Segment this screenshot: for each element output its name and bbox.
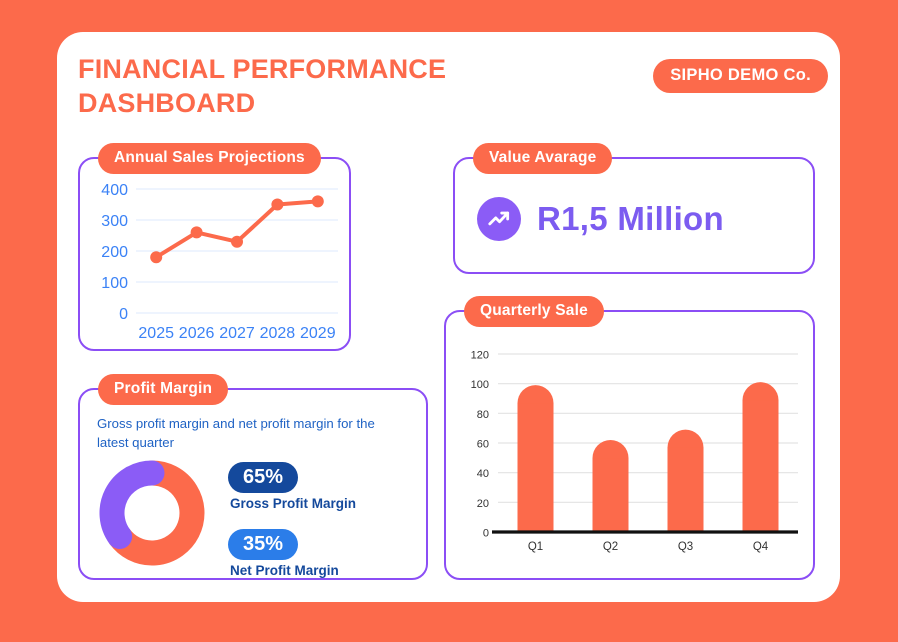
card-title-annual-sales: Annual Sales Projections [98, 143, 321, 174]
value-average-row: R1,5 Million [477, 197, 724, 241]
x-axis-tick-label: Q2 [603, 541, 618, 553]
profit-margin-description: Gross profit margin and net profit margi… [97, 414, 397, 452]
value-average-metric: R1,5 Million [537, 200, 724, 238]
x-axis-tick-label: Q3 [678, 541, 693, 553]
card-title-value-average: Value Avarage [473, 143, 612, 174]
y-axis-tick-label: 60 [477, 439, 489, 451]
x-axis-tick-label: 2028 [260, 325, 296, 342]
data-point-marker [312, 195, 324, 207]
y-axis-tick-label: 20 [477, 498, 489, 510]
legend-label-gross: Gross Profit Margin [230, 496, 356, 511]
card-annual-sales-projections: Annual Sales Projections 010020030040020… [78, 157, 351, 351]
line-chart-annual-sales: 010020030040020252026202720282029 [80, 171, 348, 351]
x-axis-tick-label: 2029 [300, 325, 336, 342]
card-quarterly-sale: Quarterly Sale 020406080100120Q1Q2Q3Q4 [444, 310, 815, 580]
donut-chart-profit-margin [96, 458, 214, 568]
y-axis-tick-label: 0 [119, 306, 128, 323]
donut-chart-svg [96, 458, 214, 568]
card-title-profit-margin: Profit Margin [98, 374, 228, 405]
line-chart-svg: 010020030040020252026202720282029 [80, 171, 348, 351]
legend-item-net: 35% Net Profit Margin [228, 529, 356, 578]
bar-chart-quarterly-sale: 020406080100120Q1Q2Q3Q4 [446, 336, 812, 576]
legend-item-gross: 65% Gross Profit Margin [228, 462, 356, 511]
data-point-marker [271, 199, 283, 211]
y-axis-tick-label: 120 [471, 350, 489, 362]
x-axis-tick-label: Q4 [753, 541, 769, 553]
y-axis-tick-label: 400 [101, 182, 128, 199]
trending-up-icon [477, 197, 521, 241]
data-point-marker [231, 236, 243, 248]
card-value-average: Value Avarage R1,5 Million [453, 157, 815, 274]
x-axis-tick-label: 2025 [138, 325, 174, 342]
data-point-marker [191, 226, 203, 238]
line-series [156, 201, 318, 257]
page-title: FINANCIAL PERFORMANCE DASHBOARD [78, 52, 498, 120]
legend-value-gross: 65% [228, 462, 298, 493]
x-axis-tick-label: 2026 [179, 325, 215, 342]
profit-margin-legend: 65% Gross Profit Margin 35% Net Profit M… [228, 462, 356, 596]
y-axis-tick-label: 40 [477, 468, 489, 480]
donut-segment [112, 473, 152, 537]
y-axis-tick-label: 0 [483, 528, 489, 540]
y-axis-tick-label: 80 [477, 409, 489, 421]
card-title-quarterly-sale: Quarterly Sale [464, 296, 604, 327]
bar-base [593, 458, 629, 532]
bar-base [743, 400, 779, 532]
brand-badge: SIPHO DEMO Co. [653, 59, 828, 93]
y-axis-tick-label: 100 [471, 379, 489, 391]
bar-base [518, 403, 554, 532]
x-axis-tick-label: Q1 [528, 541, 543, 553]
bar-chart-svg: 020406080100120Q1Q2Q3Q4 [446, 336, 812, 576]
legend-value-net: 35% [228, 529, 298, 560]
legend-label-net: Net Profit Margin [230, 563, 356, 578]
x-axis-tick-label: 2027 [219, 325, 255, 342]
data-point-marker [150, 251, 162, 263]
y-axis-tick-label: 200 [101, 244, 128, 261]
dashboard-stage: FINANCIAL PERFORMANCE DASHBOARD SIPHO DE… [0, 0, 898, 642]
bar-base [668, 448, 704, 532]
y-axis-tick-label: 300 [101, 213, 128, 230]
y-axis-tick-label: 100 [101, 275, 128, 292]
card-profit-margin: Profit Margin Gross profit margin and ne… [78, 388, 428, 580]
